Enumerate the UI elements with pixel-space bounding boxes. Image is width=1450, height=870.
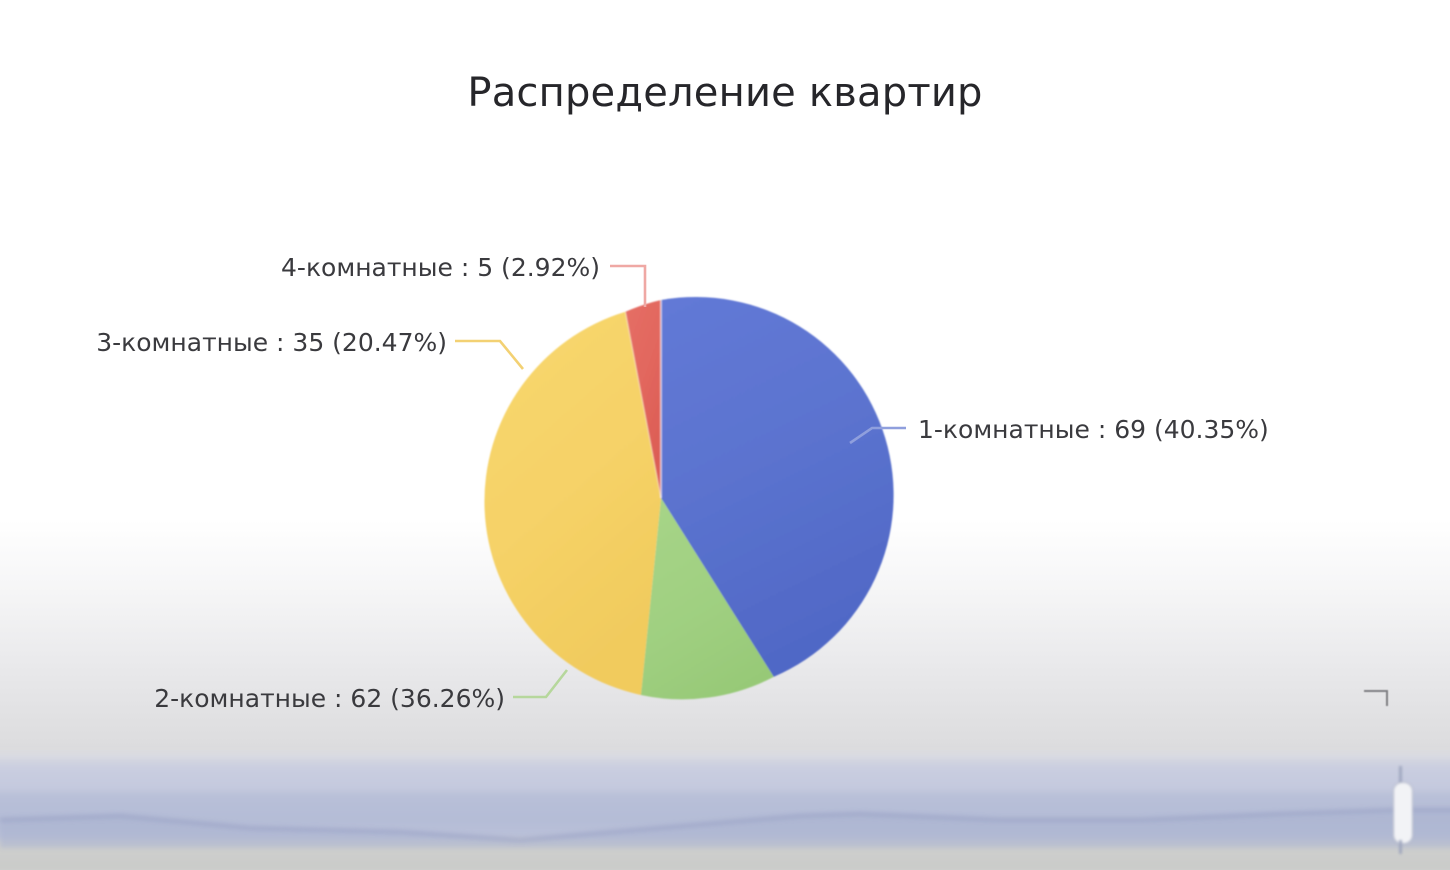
pie-label-2-room: 2-комнатные : 62 (36.26%)	[154, 684, 505, 713]
pie-chart: 4-комнатные : 5 (2.92%) 3-комнатные : 35…	[0, 0, 1450, 870]
leader-line-2-room	[513, 670, 567, 697]
pie-label-1-room: 1-комнатные : 69 (40.35%)	[918, 415, 1269, 444]
leader-line-3-room	[455, 341, 523, 369]
pie-label-4-room: 4-комнатные : 5 (2.92%)	[281, 253, 600, 282]
pie-label-3-room: 3-комнатные : 35 (20.47%)	[96, 328, 447, 357]
pie-slice-3-room[interactable]	[484, 312, 661, 695]
app-window: Распределение квартир	[0, 0, 1450, 870]
leader-line-4-room	[610, 266, 645, 307]
